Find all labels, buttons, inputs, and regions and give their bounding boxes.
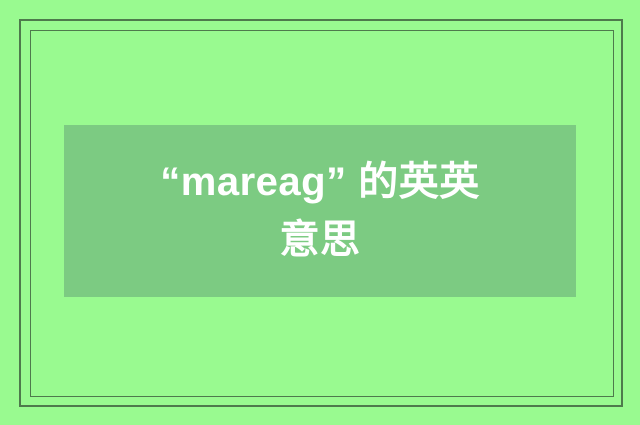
title-panel: “mareag” 的英英意思 xyxy=(64,125,576,297)
page-title: “mareag” 的英英意思 xyxy=(155,153,485,269)
image-canvas: “mareag” 的英英意思 xyxy=(0,0,640,425)
